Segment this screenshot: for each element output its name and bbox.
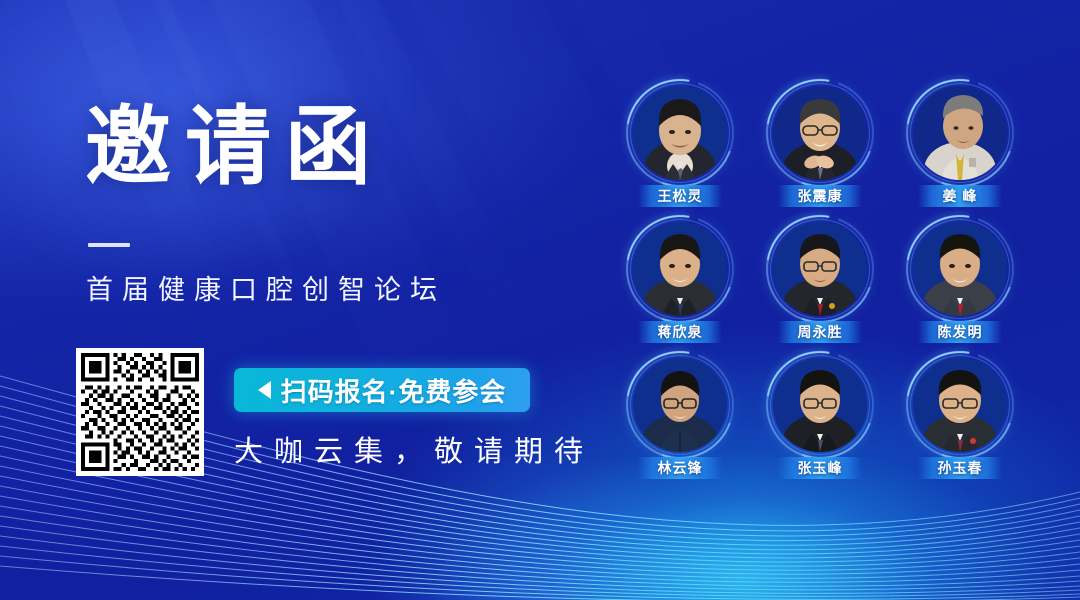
speaker-card[interactable]: 林云锋 — [610, 354, 750, 490]
avatar — [913, 358, 1007, 452]
avatar — [773, 358, 867, 452]
speaker-grid: 王松灵 张震康 姜 峰 — [610, 82, 1030, 500]
qr-code-image — [81, 353, 199, 471]
avatar — [773, 222, 867, 316]
speaker-name: 周永胜 — [798, 322, 843, 342]
invitation-poster: 邀请函 首届健康口腔创智论坛 — [0, 0, 1080, 600]
qr-code[interactable] — [76, 348, 204, 476]
speaker-name-bar: 张震康 — [778, 185, 862, 207]
speaker-name: 王松灵 — [658, 186, 703, 206]
avatar — [633, 358, 727, 452]
event-subtitle: 首届健康口腔创智论坛 — [86, 268, 446, 307]
speaker-name: 林云锋 — [658, 458, 703, 478]
register-button-label: 扫码报名·免费参会 — [281, 372, 507, 409]
speaker-card[interactable]: 陈发明 — [890, 218, 1030, 354]
register-button[interactable]: 扫码报名·免费参会 — [234, 368, 530, 412]
avatar — [913, 222, 1007, 316]
speaker-card[interactable]: 周永胜 — [750, 218, 890, 354]
speaker-name: 陈发明 — [938, 322, 983, 342]
speaker-name-bar: 陈发明 — [918, 321, 1002, 343]
speaker-name-bar: 姜 峰 — [918, 185, 1002, 207]
speaker-card[interactable]: 姜 峰 — [890, 82, 1030, 218]
left-content-column: 邀请函 首届健康口腔创智论坛 — [0, 0, 600, 600]
avatar — [633, 222, 727, 316]
speaker-card[interactable]: 蒋欣泉 — [610, 218, 750, 354]
speaker-name-bar: 周永胜 — [778, 321, 862, 343]
avatar — [913, 86, 1007, 180]
left-arrow-icon — [258, 381, 271, 399]
speaker-name-bar: 张玉峰 — [778, 457, 862, 479]
speaker-card[interactable]: 张震康 — [750, 82, 890, 218]
avatar — [773, 86, 867, 180]
speaker-name: 姜 峰 — [943, 186, 978, 206]
avatar — [633, 86, 727, 180]
speaker-name: 张玉峰 — [798, 458, 843, 478]
speaker-card[interactable]: 张玉峰 — [750, 354, 890, 490]
speaker-card[interactable]: 孙玉春 — [890, 354, 1030, 490]
title-divider — [88, 243, 130, 247]
speaker-name: 蒋欣泉 — [658, 322, 703, 342]
page-title: 邀请函 — [85, 104, 385, 190]
speaker-name-bar: 林云锋 — [638, 457, 722, 479]
speaker-card[interactable]: 王松灵 — [610, 82, 750, 218]
speaker-name-bar: 孙玉春 — [918, 457, 1002, 479]
speaker-name-bar: 王松灵 — [638, 185, 722, 207]
speaker-name: 张震康 — [798, 186, 843, 206]
speaker-name: 孙玉春 — [938, 458, 983, 478]
speaker-name-bar: 蒋欣泉 — [638, 321, 722, 343]
tagline: 大咖云集，敬请期待 — [234, 428, 594, 470]
